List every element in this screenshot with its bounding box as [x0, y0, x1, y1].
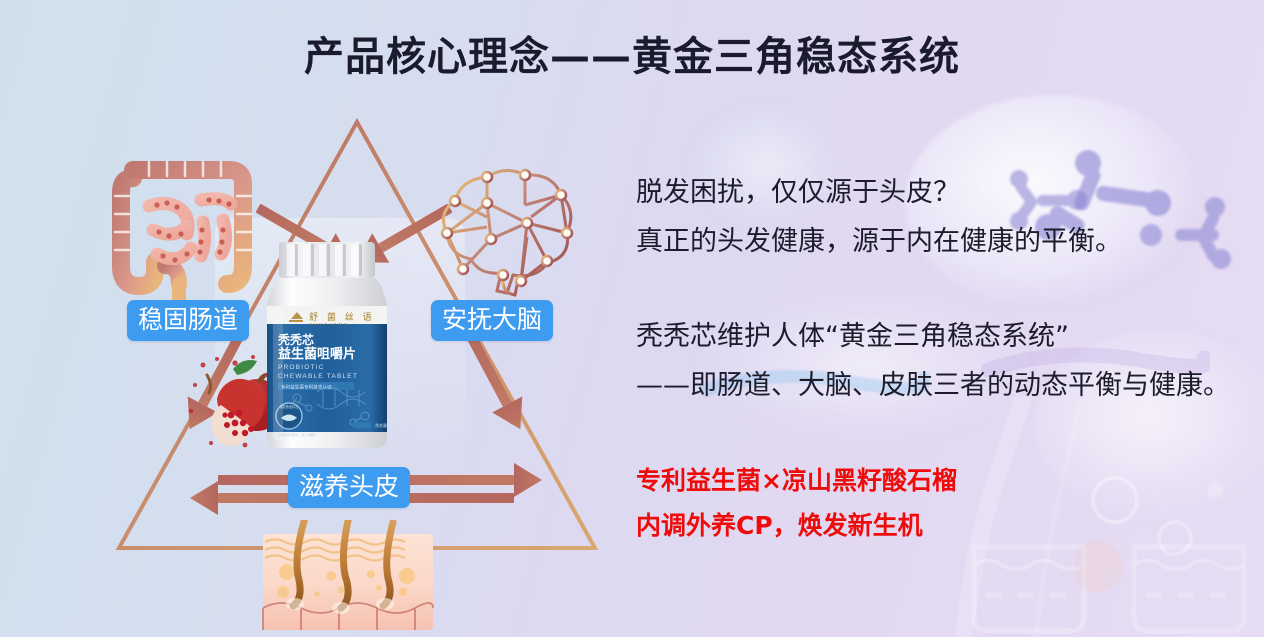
badge-scalp[interactable]: 滋养头皮: [288, 467, 410, 508]
intestine-icon: [105, 150, 280, 300]
svg-text:净含量 60g: 净含量 60g: [375, 422, 396, 428]
slide-root: 产品核心理念——黄金三角稳态系统: [0, 0, 1264, 637]
copy-block: 脱发困扰，仅仅源于头皮？ 真正的头发健康，源于内在健康的平衡。 秃秃芯维护人体“…: [636, 168, 1256, 410]
lead-line-2: 真正的头发健康，源于内在健康的平衡。: [636, 217, 1256, 266]
body-line-2: ——即肠道、大脑、皮肤三者的动态平衡与健康。: [636, 361, 1256, 410]
badge-gut[interactable]: 稳固肠道: [127, 300, 249, 341]
product-bottle: 舒 菌 丝 语 SHUBIOME 秃秃芯 益生菌咀嚼片 PROBIOTIC CH…: [257, 240, 397, 455]
svg-text:CHEWABLE TABLET: CHEWABLE TABLET: [278, 373, 358, 380]
golden-triangle-diagram: 舒 菌 丝 语 SHUBIOME 秃秃芯 益生菌咀嚼片 PROBIOTIC CH…: [95, 110, 615, 637]
lead-line-1: 脱发困扰，仅仅源于头皮？: [636, 168, 1256, 217]
svg-text:益生菌咀嚼片: 益生菌咀嚼片: [278, 346, 356, 362]
page-title: 产品核心理念——黄金三角稳态系统: [0, 24, 1264, 82]
body-line-1: 秃秃芯维护人体“黄金三角稳态系统”: [636, 312, 1256, 361]
scalp-hair-follicle-icon: [253, 520, 453, 635]
highlight-line-2: 内调外养CP，焕发新生机: [636, 503, 1196, 548]
badge-brain-label: 安抚大脑: [442, 305, 542, 334]
highlight-line-1: 专利益生菌×凉山黑籽酸石榴: [636, 458, 1196, 503]
copy-spacer: [636, 266, 1256, 312]
svg-text:专利益生菌专利技术认证: 专利益生菌专利技术认证: [281, 384, 332, 391]
svg-text:固体饮料食品（压片糖果）: 固体饮料食品（压片糖果）: [278, 432, 319, 437]
badge-scalp-label: 滋养头皮: [299, 472, 399, 501]
svg-text:SHUBIOME: SHUBIOME: [309, 322, 350, 327]
badge-gut-label: 稳固肠道: [138, 305, 238, 334]
svg-text:PROBIOTIC: PROBIOTIC: [278, 364, 325, 371]
badge-brain[interactable]: 安抚大脑: [431, 300, 553, 341]
highlight-block: 专利益生菌×凉山黑籽酸石榴 内调外养CP，焕发新生机: [636, 458, 1196, 548]
brain-network-icon: [417, 165, 577, 300]
